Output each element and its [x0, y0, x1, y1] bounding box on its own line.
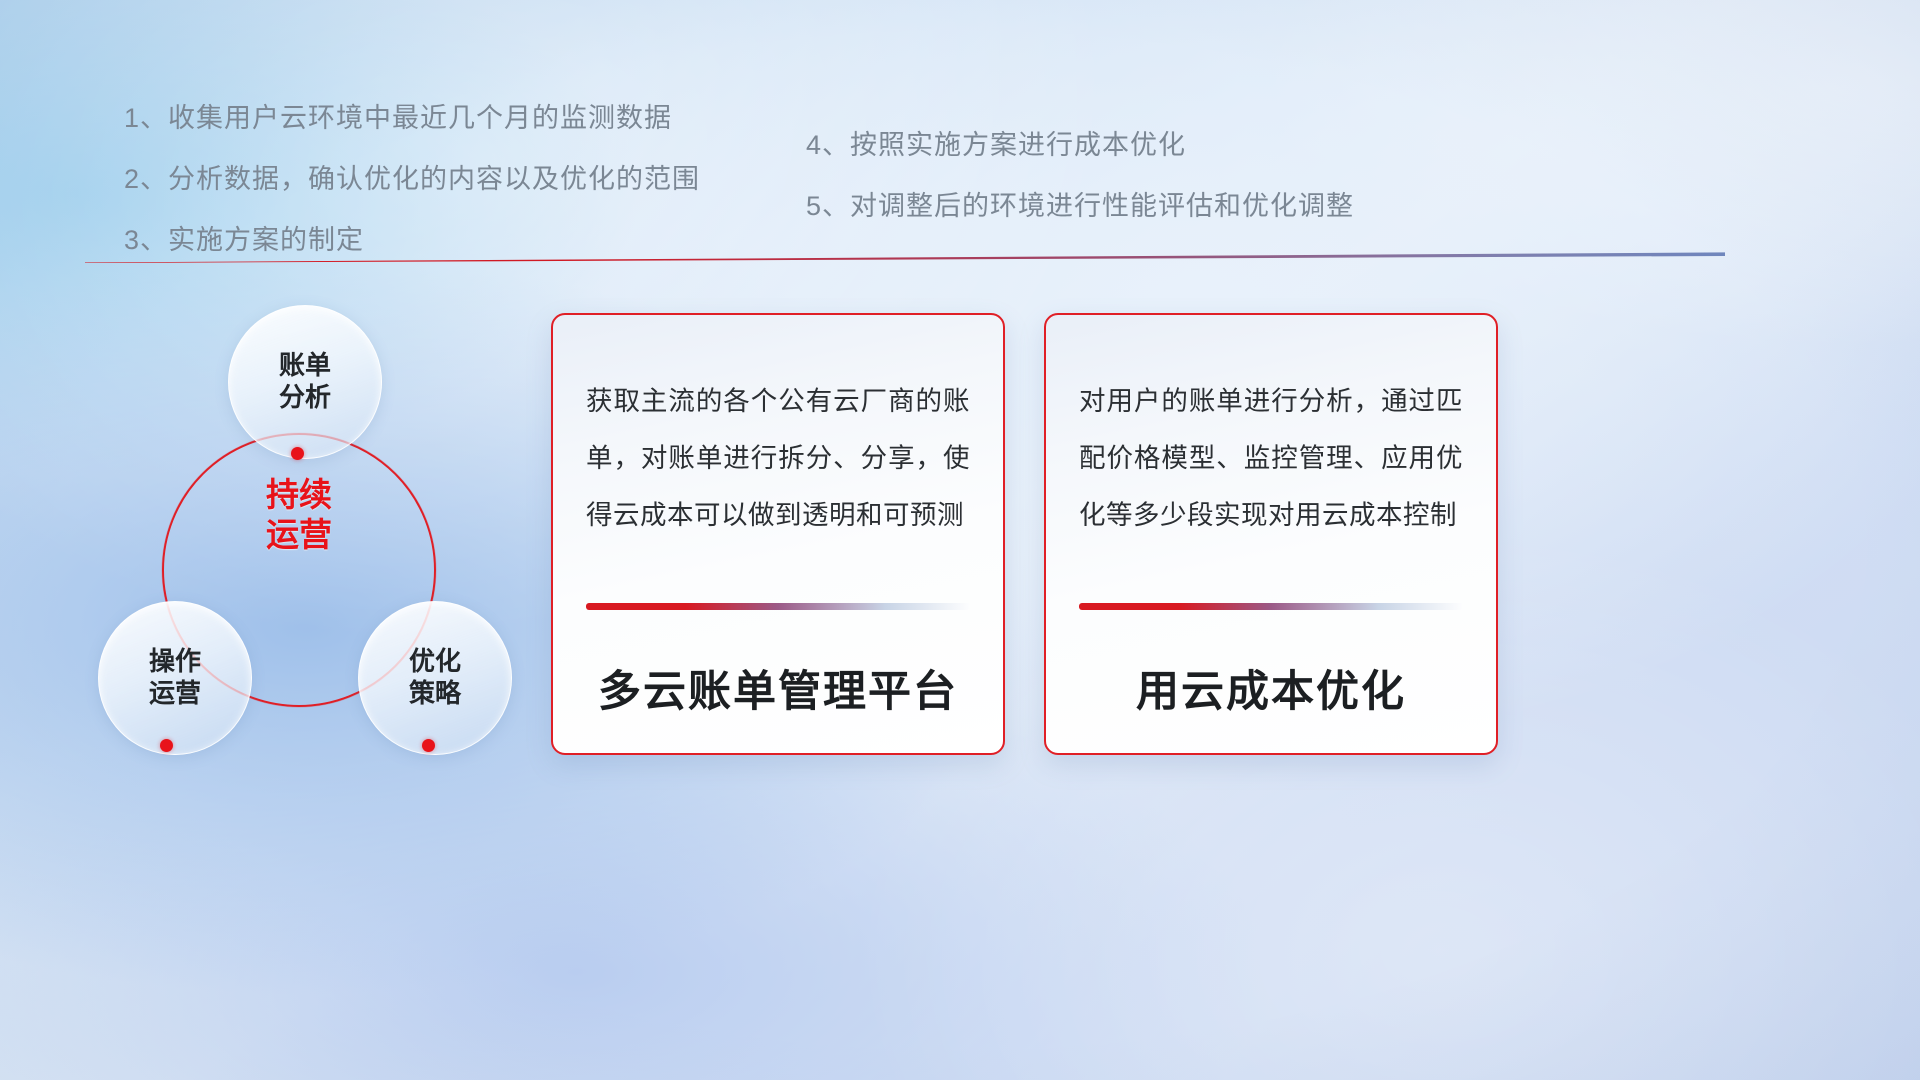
- steps-list-left: 1、收集用户云环境中最近几个月的监测数据 2、分析数据，确认优化的内容以及优化的…: [124, 96, 700, 257]
- card-cloud-cost-optimization-rule: [1079, 603, 1463, 610]
- venn-circle-operations[interactable]: 操作运营: [98, 601, 252, 755]
- venn-circle-optimization-strategy[interactable]: 优化策略: [358, 601, 512, 755]
- venn-circle-operations-label: 操作运营: [149, 646, 201, 709]
- venn-node-dot-bottom-right: [422, 739, 435, 752]
- card-multi-cloud-billing-body: 获取主流的各个公有云厂商的账单，对账单进行拆分、分享，使得云成本可以做到透明和可…: [586, 373, 970, 544]
- venn-circle-billing-analysis[interactable]: 账单分析: [228, 305, 382, 459]
- venn-node-dot-top: [291, 447, 304, 460]
- venn-circle-billing-analysis-label: 账单分析: [279, 350, 331, 413]
- card-multi-cloud-billing-title: 多云账单管理平台: [586, 657, 970, 719]
- steps-list-right: 4、按照实施方案进行成本优化 5、对调整后的环境进行性能评估和优化调整: [806, 123, 1354, 223]
- card-multi-cloud-billing-rule: [586, 603, 970, 610]
- venn-circle-optimization-strategy-label: 优化策略: [409, 646, 461, 709]
- venn-node-dot-bottom-left: [160, 739, 173, 752]
- card-cloud-cost-optimization-title: 用云成本优化: [1079, 657, 1463, 719]
- step-item-2: 2、分析数据，确认优化的内容以及优化的范围: [124, 157, 700, 196]
- step-item-4: 4、按照实施方案进行成本优化: [806, 123, 1354, 162]
- step-item-5: 5、对调整后的环境进行性能评估和优化调整: [806, 184, 1354, 223]
- venn-center-label: 持续运营: [235, 475, 363, 554]
- venn-diagram: 账单分析 操作运营 优化策略 持续运营: [80, 285, 550, 775]
- card-cloud-cost-optimization[interactable]: 对用户的账单进行分析，通过匹配价格模型、监控管理、应用优化等多少段实现对用云成本…: [1044, 313, 1498, 755]
- card-cloud-cost-optimization-body: 对用户的账单进行分析，通过匹配价格模型、监控管理、应用优化等多少段实现对用云成本…: [1079, 373, 1463, 544]
- red-divider: [85, 252, 1725, 263]
- card-multi-cloud-billing[interactable]: 获取主流的各个公有云厂商的账单，对账单进行拆分、分享，使得云成本可以做到透明和可…: [551, 313, 1005, 755]
- step-item-1: 1、收集用户云环境中最近几个月的监测数据: [124, 96, 700, 135]
